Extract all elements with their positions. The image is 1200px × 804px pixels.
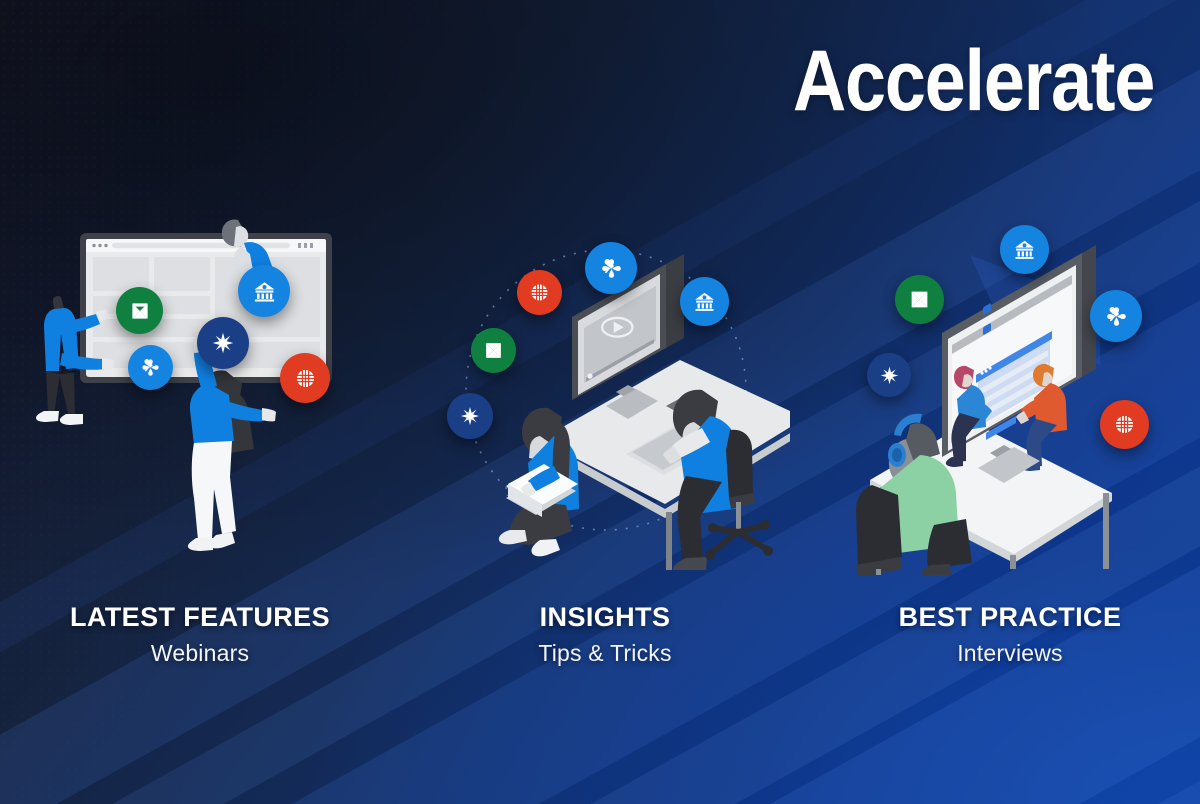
- section-title: INSIGHTS: [455, 603, 755, 633]
- badge-flower-clover[interactable]: [128, 345, 173, 390]
- starburst-x-icon: [125, 296, 155, 326]
- compass-star-icon: [206, 326, 240, 360]
- badge-flower-clover[interactable]: [1090, 290, 1142, 342]
- compass-star-icon: [875, 361, 904, 390]
- scene-insights: [430, 240, 790, 570]
- badge-bank-building[interactable]: [238, 265, 290, 317]
- badge-compass-star[interactable]: [197, 317, 249, 369]
- flower-clover-icon: [1100, 300, 1133, 333]
- grid-globe-icon: [1109, 409, 1140, 440]
- badge-starburst-x[interactable]: [471, 328, 516, 373]
- grid-globe-icon: [290, 363, 321, 394]
- badge-bank-building[interactable]: [1000, 225, 1049, 274]
- flower-clover-icon: [595, 252, 628, 285]
- section-title: BEST PRACTICE: [855, 603, 1165, 633]
- starburst-x-icon: [904, 284, 935, 315]
- person-pointing-left: [36, 296, 114, 425]
- badge-bank-building[interactable]: [680, 277, 729, 326]
- badge-grid-globe[interactable]: [1100, 400, 1149, 449]
- badge-grid-globe[interactable]: [517, 270, 562, 315]
- caption-insights: INSIGHTS Tips & Tricks: [455, 603, 755, 667]
- brand-wordmark: Accelerate: [793, 38, 1154, 124]
- bank-building-icon: [1009, 234, 1040, 265]
- section-title: LATEST FEATURES: [30, 603, 370, 633]
- scene-latest-features: [30, 205, 380, 575]
- badge-grid-globe[interactable]: [280, 353, 330, 403]
- badge-compass-star[interactable]: [867, 353, 911, 397]
- section-subtitle: Interviews: [855, 640, 1165, 667]
- scene-best-practice: [850, 225, 1180, 575]
- caption-latest-features: LATEST FEATURES Webinars: [30, 603, 370, 667]
- compass-star-icon: [455, 401, 485, 431]
- badge-starburst-x[interactable]: [116, 287, 163, 334]
- bank-building-icon: [689, 286, 720, 317]
- badge-compass-star[interactable]: [447, 393, 493, 439]
- grid-globe-icon: [525, 278, 554, 307]
- bank-building-icon: [248, 275, 281, 308]
- flower-clover-icon: [136, 353, 165, 382]
- starburst-x-icon: [479, 336, 508, 365]
- badge-flower-clover[interactable]: [585, 242, 637, 294]
- caption-best-practice: BEST PRACTICE Interviews: [855, 603, 1165, 667]
- badge-starburst-x[interactable]: [895, 275, 944, 324]
- section-subtitle: Tips & Tricks: [455, 640, 755, 667]
- poster-canvas: Accelerate LATEST FEATURES Webinars INSI…: [0, 0, 1200, 804]
- section-subtitle: Webinars: [30, 640, 370, 667]
